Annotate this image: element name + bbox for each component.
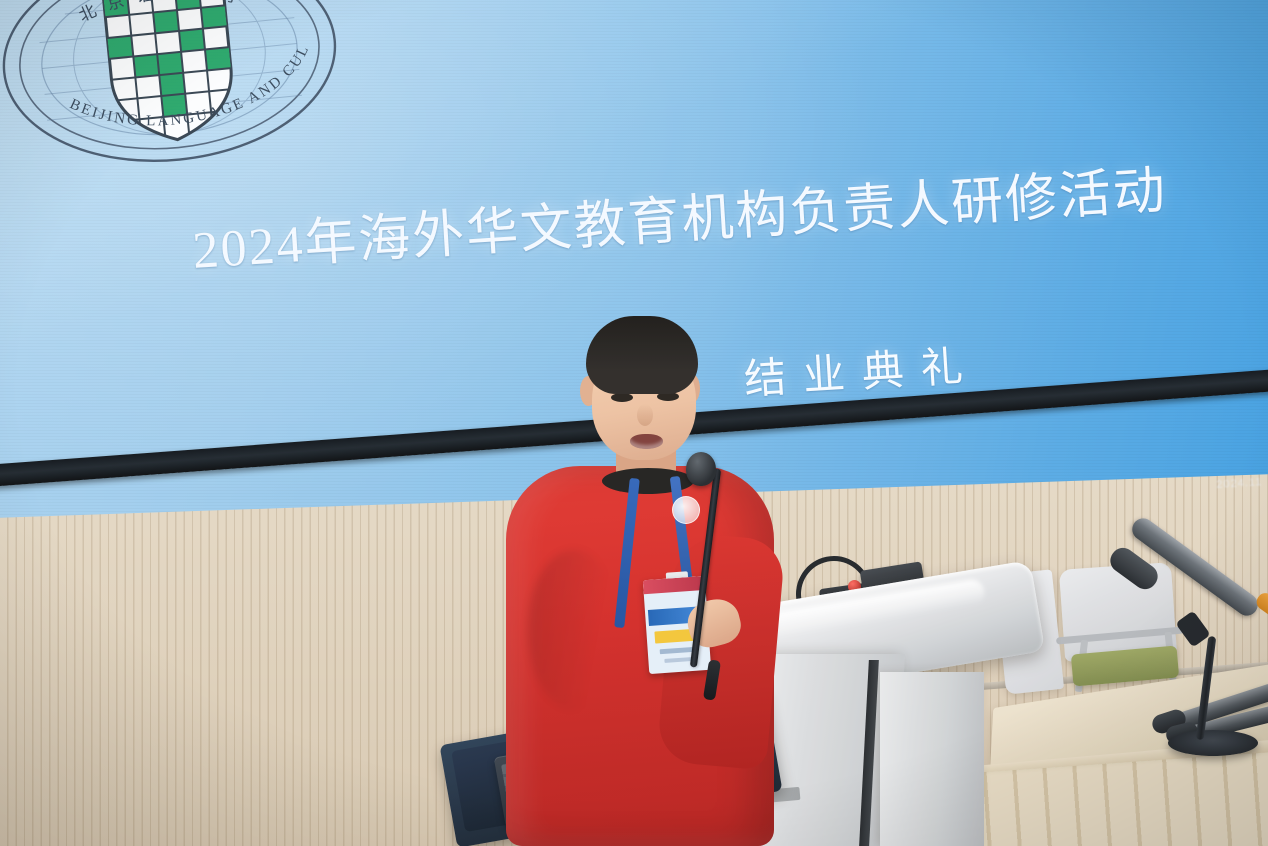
mouth — [630, 434, 663, 449]
photo-canvas: BEIJING LANGUAGE AND CULTURE UNIVERSITY … — [0, 0, 1268, 846]
eye — [611, 393, 633, 402]
podium-microphone-icon[interactable] — [686, 452, 716, 486]
presenter — [470, 300, 800, 846]
university-emblem-icon: BEIJING LANGUAGE AND CULTURE UNIVERSITY … — [0, 0, 346, 180]
hair — [586, 316, 698, 394]
nose — [637, 404, 653, 426]
slide-date: 2024.11 — [1216, 476, 1263, 491]
lectern-side-panel — [880, 672, 984, 846]
sweater-logo-icon — [672, 496, 700, 524]
sweater-fold — [528, 550, 620, 710]
microphone-stand-base — [1168, 730, 1258, 756]
badge-header — [643, 576, 706, 594]
